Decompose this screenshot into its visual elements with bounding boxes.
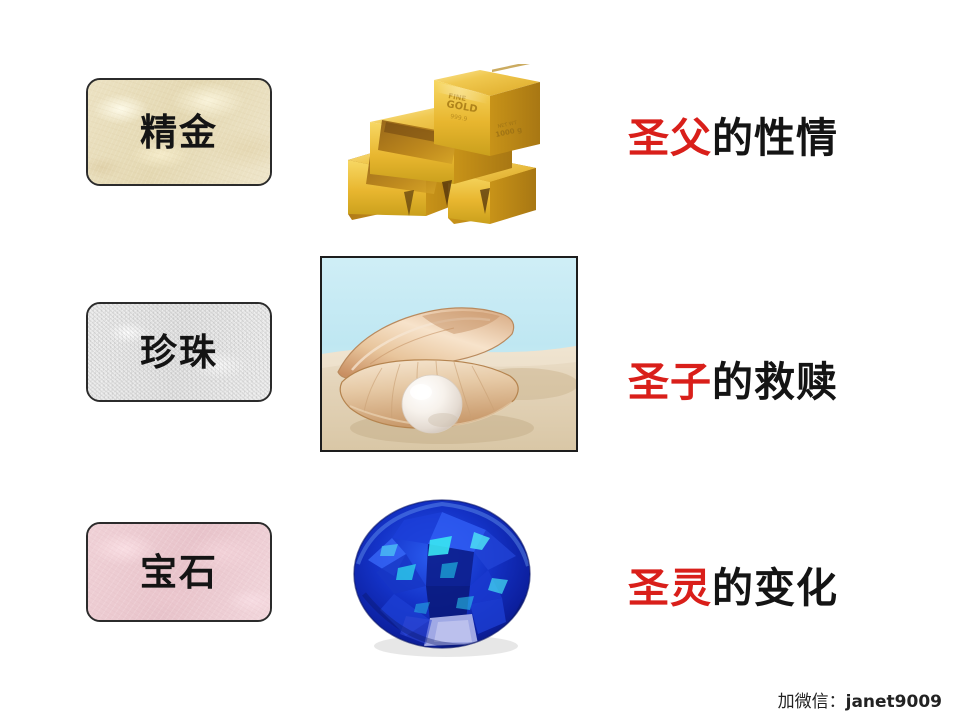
caption-pearl: 圣子的救赎	[628, 362, 838, 403]
pearl	[402, 375, 462, 433]
pearl-highlight	[410, 384, 432, 400]
wechat-watermark-prefix: 加微信：	[778, 692, 846, 712]
sapphire-svg	[346, 494, 542, 660]
gold-bar-top: FINE GOLD 999.9 NET WT 1000 g	[434, 64, 540, 156]
wechat-watermark: 加微信：janet9009	[778, 687, 942, 712]
label-chip-gem[interactable]: 宝石	[86, 522, 272, 622]
label-chip-gold-text: 精金	[140, 114, 218, 151]
pearl-shade	[428, 413, 458, 427]
gold-bars-svg: FINE GOLD 999.9 NET WT 1000 g	[330, 64, 550, 236]
pearl-in-oyster-svg	[322, 258, 576, 450]
caption-gold-rest: 的性情	[712, 114, 838, 162]
content-row-gold: 精金	[0, 60, 960, 240]
caption-gold-highlight: 圣父	[628, 114, 712, 162]
wechat-watermark-id: janet9009	[846, 692, 942, 712]
label-chip-gem-text: 宝石	[140, 554, 218, 591]
caption-pearl-rest: 的救赎	[712, 358, 838, 406]
caption-gem-rest: 的变化	[712, 564, 838, 612]
slide-canvas: 精金	[0, 0, 960, 720]
content-row-gem: 宝石	[0, 480, 960, 670]
caption-gem: 圣灵的变化	[628, 568, 838, 609]
blue-sapphire-gem-image	[346, 494, 542, 660]
caption-gem-highlight: 圣灵	[628, 564, 712, 612]
label-chip-pearl-text: 珍珠	[140, 334, 218, 371]
label-chip-gold[interactable]: 精金	[86, 78, 272, 186]
label-chip-pearl[interactable]: 珍珠	[86, 302, 272, 402]
caption-gold: 圣父的性情	[628, 118, 838, 159]
content-row-pearl: 珍珠	[0, 250, 960, 460]
pearl-in-oyster-image	[320, 256, 578, 452]
gold-bars-image: FINE GOLD 999.9 NET WT 1000 g	[330, 64, 550, 236]
caption-pearl-highlight: 圣子	[628, 358, 712, 406]
